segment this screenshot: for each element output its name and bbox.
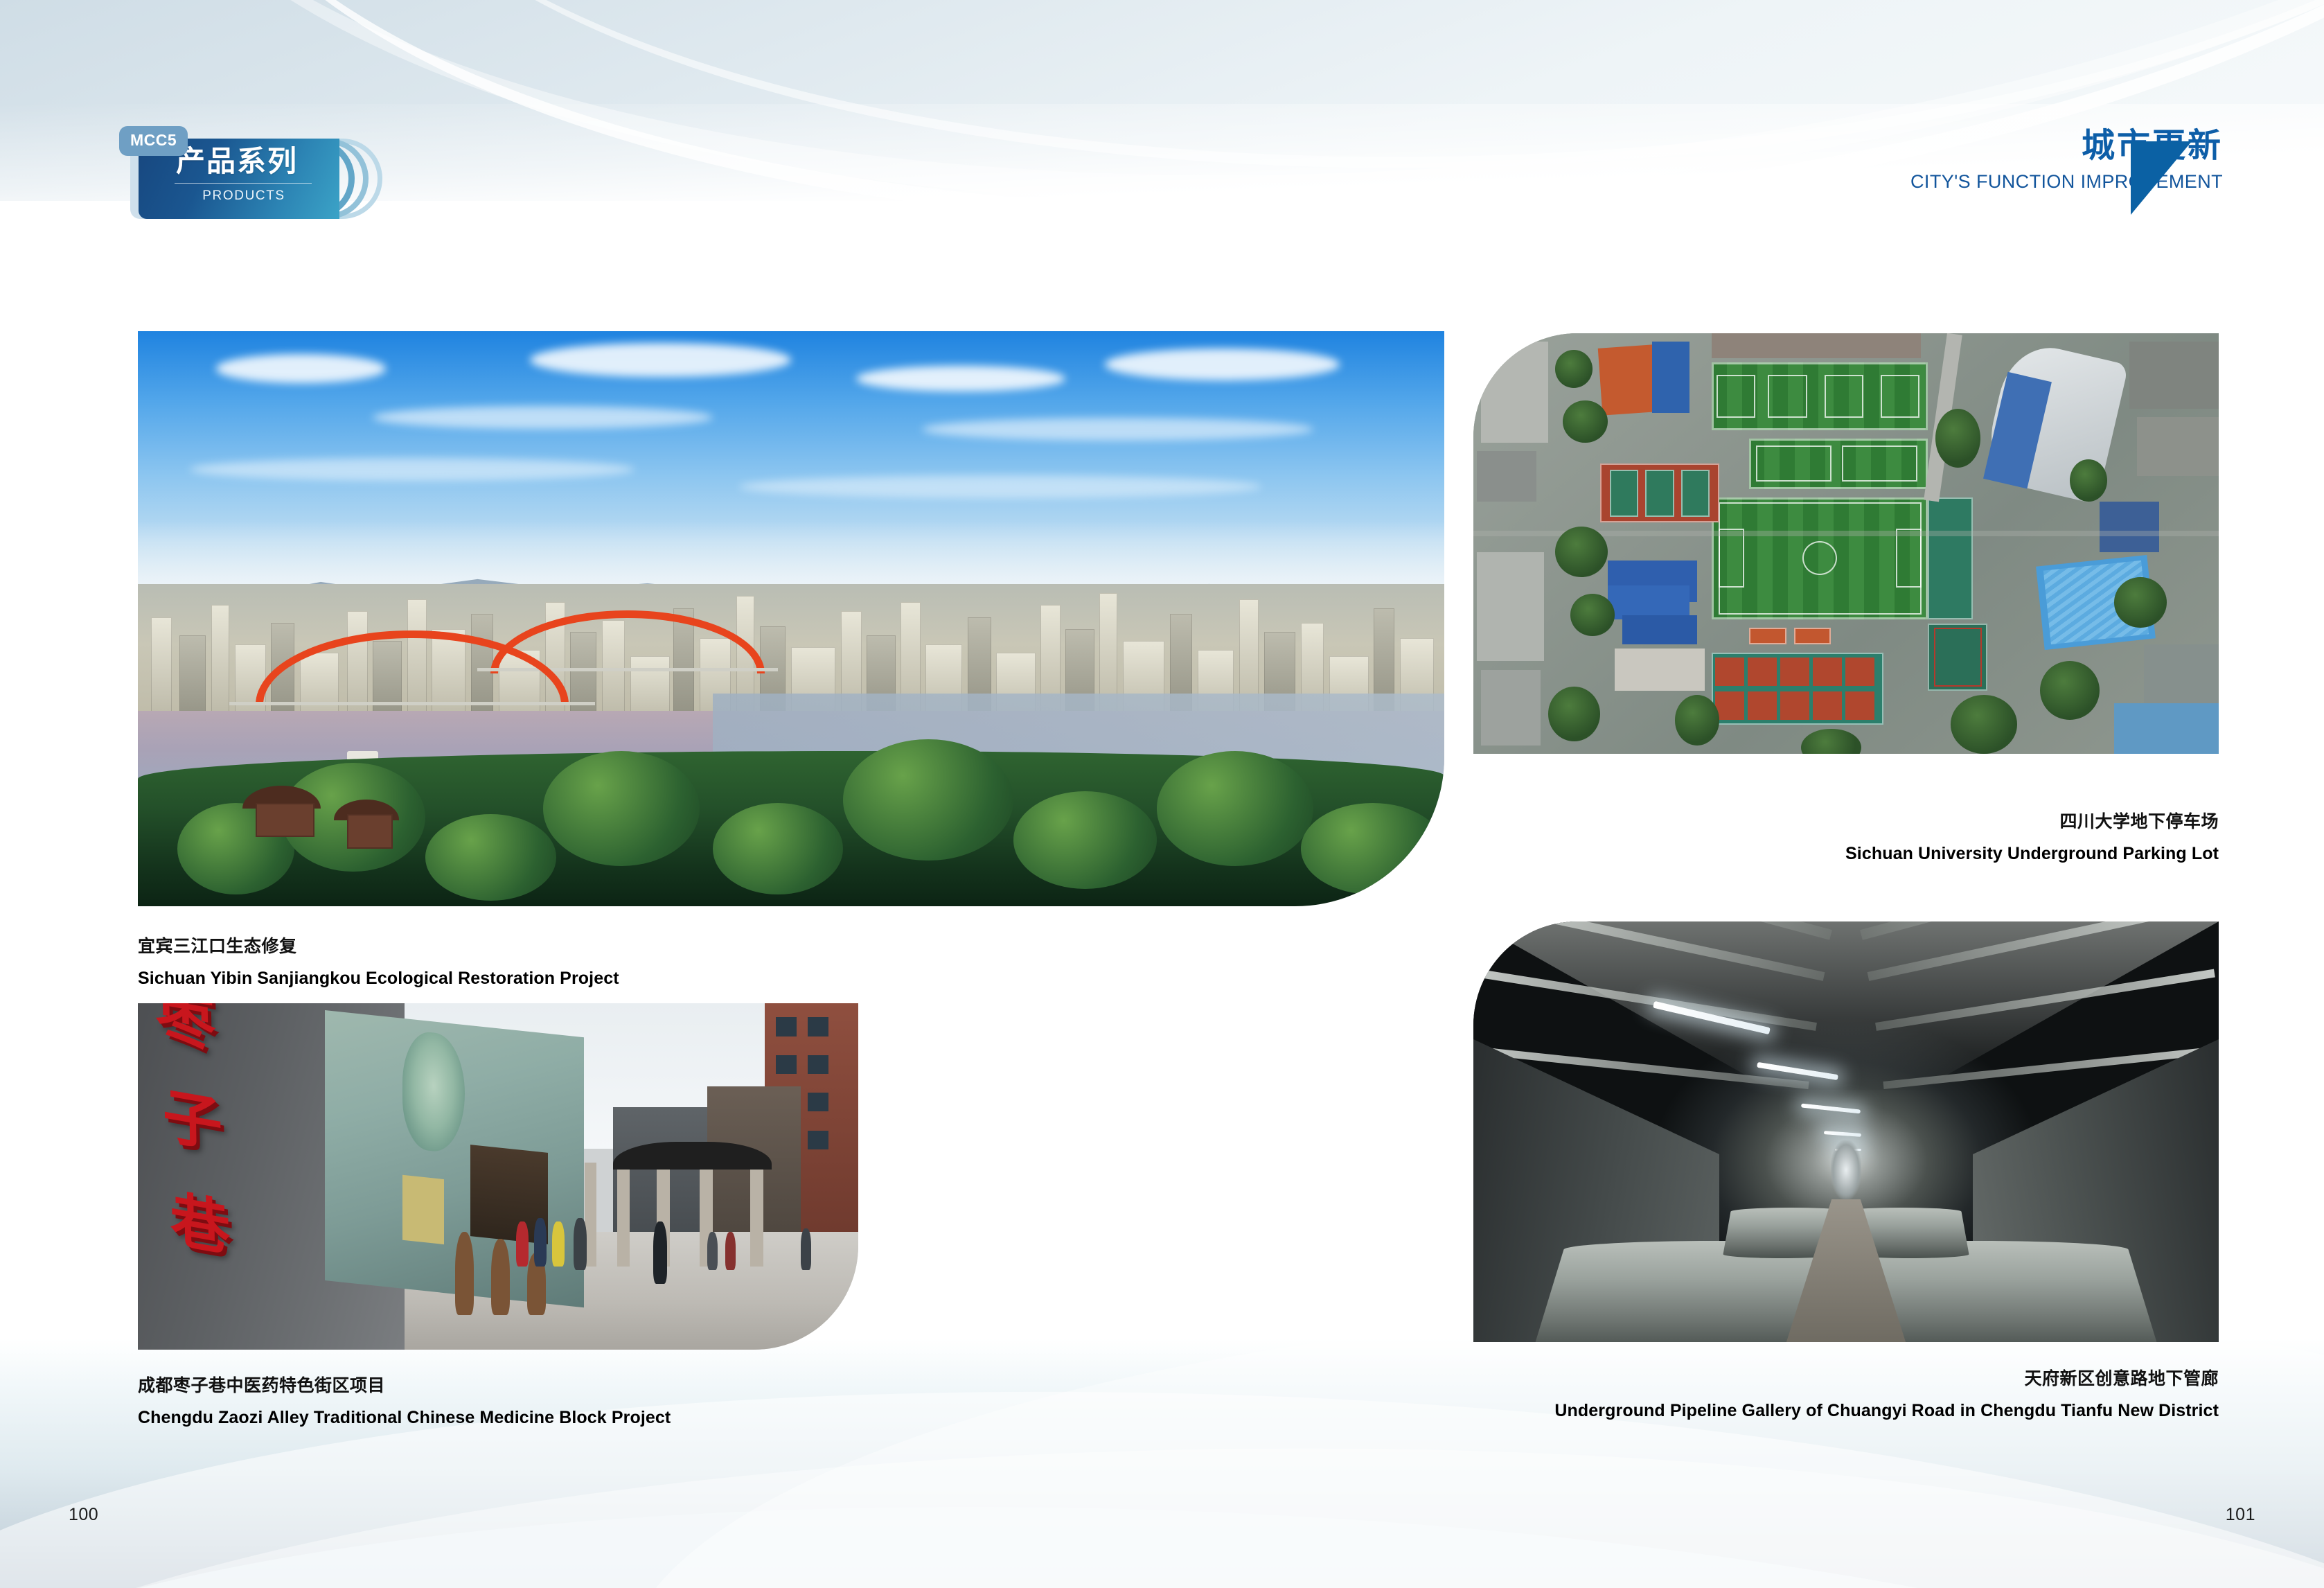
pedestrian — [725, 1232, 736, 1270]
caption-en: Sichuan Yibin Sanjiangkou Ecological Res… — [138, 966, 619, 992]
pedestrian — [707, 1232, 718, 1270]
basketball-courts — [1712, 653, 1883, 724]
caption-sichuan-university: 四川大学地下停车场 Sichuan University Underground… — [1845, 809, 2219, 867]
mcc5-badge: MCC5 — [119, 126, 188, 156]
photo-yibin-cityscape — [138, 331, 1444, 906]
bronze-statue — [455, 1232, 474, 1315]
caption-zaozi-alley: 成都枣子巷中医药特色街区项目 Chengdu Zaozi Alley Tradi… — [138, 1373, 671, 1431]
caption-cn: 四川大学地下停车场 — [1845, 809, 2219, 836]
pedestrian — [801, 1228, 812, 1270]
banner-divider — [175, 183, 312, 184]
red-character: 巷 — [170, 1192, 230, 1259]
section-triangle-icon — [2131, 141, 2192, 215]
pedestrian — [516, 1221, 529, 1267]
brochure-spread: 产品系列 PRODUCTS MCC5 城市更新 CITY'S FUNCTION … — [0, 0, 2324, 1588]
caption-cn: 天府新区创意路地下管廊 — [1554, 1366, 2219, 1393]
red-character: 子 — [163, 1088, 223, 1155]
bridge-near-deck — [229, 702, 595, 705]
red-character: 枣 — [155, 1003, 215, 1055]
photo-chuangyi-road-pipeline — [1473, 921, 2219, 1342]
gate-pillar — [750, 1163, 763, 1267]
caption-yibin: 宜宾三江口生态修复 Sichuan Yibin Sanjiangkou Ecol… — [138, 934, 619, 991]
football-pitch-top — [1712, 362, 1928, 430]
caption-pipeline-gallery: 天府新区创意路地下管廊 Underground Pipeline Gallery… — [1554, 1366, 2219, 1424]
caption-cn: 成都枣子巷中医药特色街区项目 — [138, 1373, 671, 1400]
photographer — [653, 1221, 668, 1284]
caption-en: Chengdu Zaozi Alley Traditional Chinese … — [138, 1405, 671, 1431]
gate-pillar — [617, 1159, 630, 1267]
page-number-left: 100 — [69, 1505, 98, 1525]
mural-tree — [403, 1029, 465, 1154]
blue-roof — [1652, 342, 1689, 413]
caption-en: Sichuan University Underground Parking L… — [1845, 841, 2219, 867]
banner-title-cn: 产品系列 — [176, 147, 298, 176]
temple — [347, 814, 393, 849]
temple — [256, 803, 314, 838]
photo-sichuan-university-parking — [1473, 333, 2219, 754]
pedestrian — [574, 1218, 587, 1270]
vanishing-point-light — [1831, 1140, 1861, 1199]
pedestrian — [534, 1218, 547, 1267]
football-pitch-mid — [1749, 439, 1928, 489]
caption-cn: 宜宾三江口生态修复 — [138, 934, 619, 960]
pedestrian — [552, 1221, 565, 1267]
page-number-right: 101 — [2226, 1505, 2255, 1525]
football-pitch-main — [1712, 497, 1928, 619]
photo-zaozi-alley: 枣 子 巷 — [138, 1003, 858, 1350]
tennis-courts — [1600, 464, 1719, 522]
banner-title-en: PRODUCTS — [175, 188, 313, 204]
caption-en: Underground Pipeline Gallery of Chuangyi… — [1554, 1398, 2219, 1424]
bronze-statue — [491, 1239, 510, 1315]
